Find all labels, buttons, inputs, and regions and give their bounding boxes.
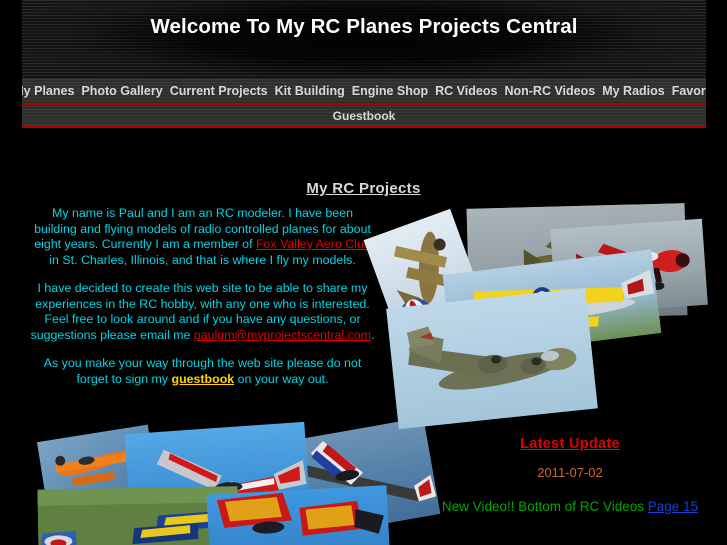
primary-navigation: HomeMy PlanesPhoto GalleryCurrent Projec… (22, 79, 706, 105)
nav-guestbook[interactable]: Guestbook (329, 105, 399, 127)
page-root: Welcome To My RC Planes Projects Central… (0, 0, 727, 545)
nav-my-radios[interactable]: My Radios (599, 80, 669, 102)
nav-engine-shop[interactable]: Engine Shop (348, 80, 431, 102)
photo-collage-top-right (373, 202, 708, 430)
latest-update-text: New Video!! Bottom of RC Videos (442, 499, 648, 514)
secondary-navigation: Guestbook (22, 105, 706, 128)
photo-collage-bottom-left (38, 428, 428, 545)
latest-update-date: 2011-07-02 (425, 465, 715, 480)
guestbook-link[interactable]: guestbook (172, 372, 235, 386)
twin-bomber-silhouette-icon (386, 288, 598, 429)
intro-paragraph-3: As you make your way through the web sit… (30, 356, 375, 387)
fox-valley-aero-club-link[interactable]: Fox Valley Aero Club (256, 237, 371, 251)
nav-non-rc-videos[interactable]: Non-RC Videos (501, 80, 599, 102)
section-heading: My RC Projects (0, 180, 727, 197)
nav-photo-gallery[interactable]: Photo Gallery (78, 80, 166, 102)
latest-update-panel: Latest Update 2011-07-02 New Video!! Bot… (425, 436, 715, 517)
blue-gold-silhouette-icon (207, 485, 390, 545)
nav-kit-building[interactable]: Kit Building (271, 80, 348, 102)
rc-videos-page-15-link[interactable]: Page 15 (648, 499, 698, 514)
nav-my-planes[interactable]: My Planes (22, 80, 78, 102)
email-link[interactable]: paulgm@myprojectscentral.com (194, 328, 371, 342)
nav-current-projects[interactable]: Current Projects (166, 80, 271, 102)
photo-blue-gold (207, 485, 390, 545)
intro-paragraph-2: I have decided to create this web site t… (30, 281, 375, 343)
nav-rc-videos[interactable]: RC Videos (432, 80, 501, 102)
photo-twin-bomber (386, 288, 598, 429)
latest-update-title: Latest Update (425, 436, 715, 452)
nav-favorite-links[interactable]: Favorite Links (668, 80, 706, 102)
main-content: My RC Projects My name is Paul and I am … (0, 128, 727, 545)
page-title: Welcome To My RC Planes Projects Central (22, 15, 706, 39)
intro-p1-part2: in St. Charles, Illinois, and that is wh… (49, 253, 355, 267)
intro-p3-part2: on your way out. (234, 372, 328, 386)
latest-update-body: New Video!! Bottom of RC Videos Page 15 (425, 496, 715, 517)
intro-text-column: My name is Paul and I am an RC modeler. … (30, 206, 375, 400)
header-banner: Welcome To My RC Planes Projects Central (22, 0, 706, 79)
intro-paragraph-1: My name is Paul and I am an RC modeler. … (30, 206, 375, 268)
